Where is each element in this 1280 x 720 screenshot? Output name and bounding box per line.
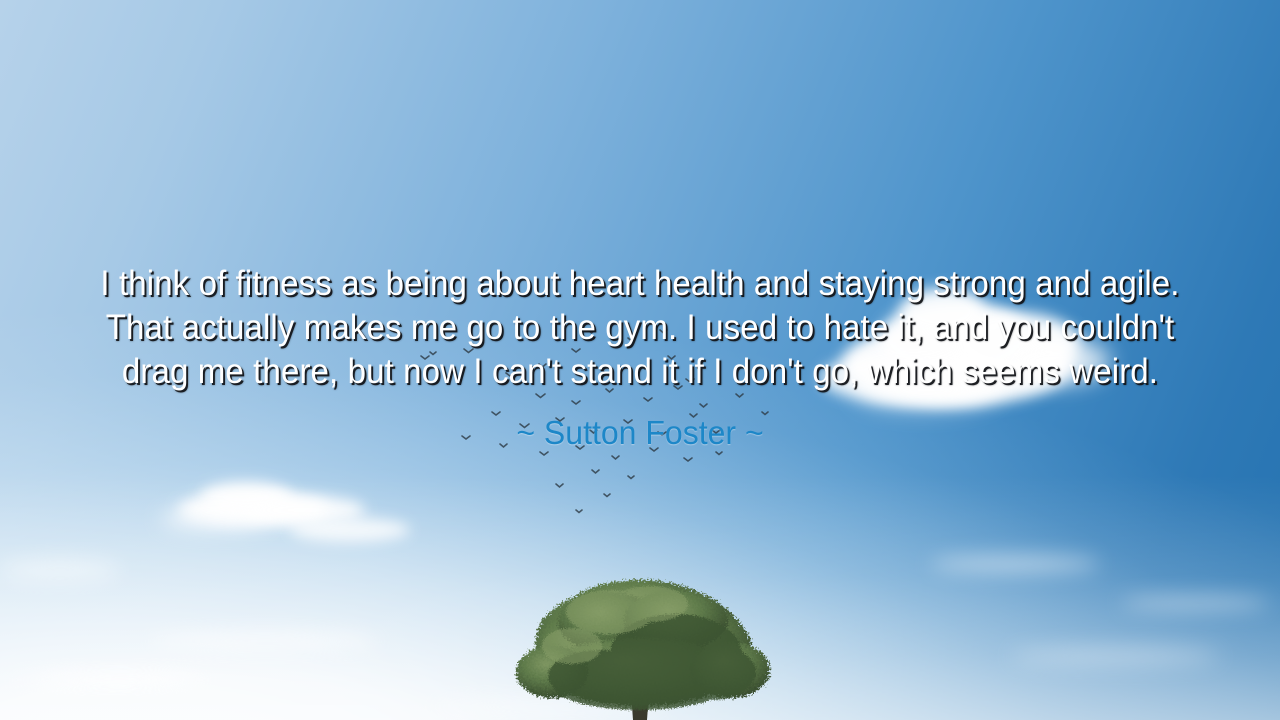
quote-attribution: ~ Sutton Foster ~ [77, 394, 1202, 453]
quote-text: I think of fitness as being about heart … [92, 262, 1188, 394]
quote-image-card: I think of fitness as being about heart … [0, 0, 1280, 720]
quote-text-block: I think of fitness as being about heart … [0, 262, 1280, 453]
